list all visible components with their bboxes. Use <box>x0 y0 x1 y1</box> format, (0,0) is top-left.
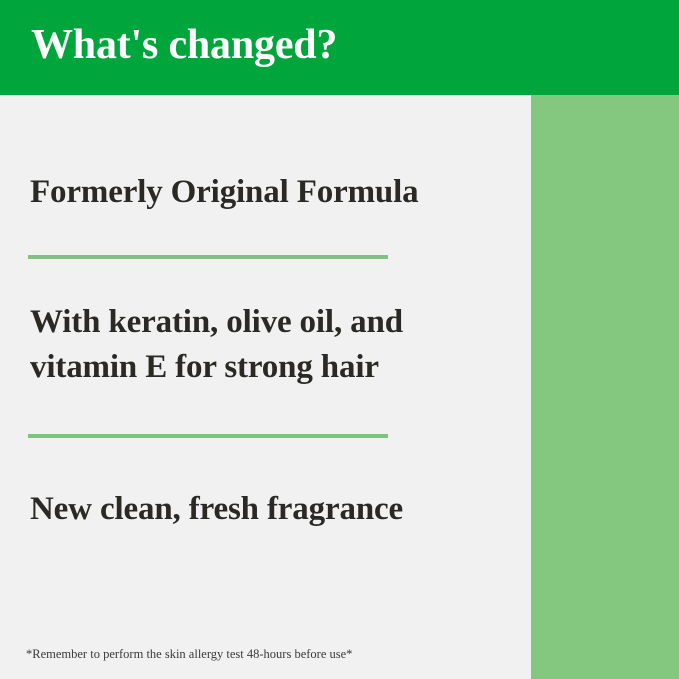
claim-item-formerly-original-formula: Formerly Original Formula <box>30 170 500 215</box>
divider-rule-1 <box>28 255 388 259</box>
claim-item-fragrance: New clean, fresh fragrance <box>30 487 500 532</box>
header-band: What's changed? <box>0 0 679 95</box>
product-info-card: What's changed? Formerly Original Formul… <box>0 0 679 679</box>
claim-item-ingredients: With keratin, olive oil, and vitamin E f… <box>30 300 500 390</box>
divider-rule-2 <box>28 434 388 438</box>
page-title: What's changed? <box>31 19 337 71</box>
allergy-test-footnote: *Remember to perform the skin allergy te… <box>26 646 506 662</box>
right-accent-panel <box>531 95 679 679</box>
claims-list: Formerly Original Formula With keratin, … <box>0 95 531 679</box>
